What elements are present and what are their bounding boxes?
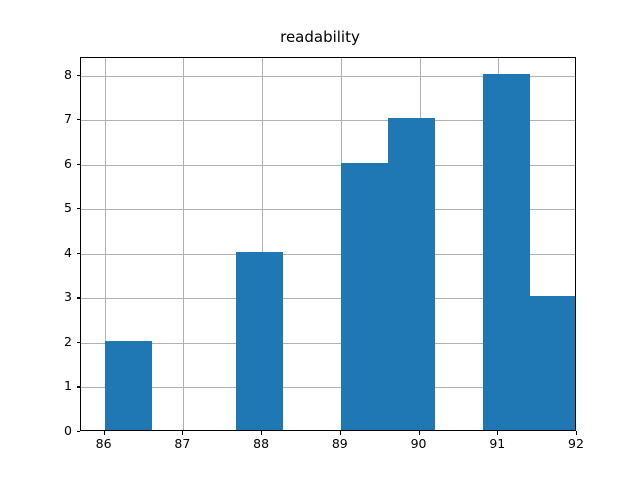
bar <box>530 296 576 430</box>
x-tick-label: 86 <box>96 438 112 450</box>
y-tick-label: 3 <box>64 291 72 303</box>
bar <box>341 163 388 430</box>
x-tick-label: 92 <box>568 438 584 450</box>
y-tick-mark <box>77 431 81 432</box>
x-tick-label: 88 <box>253 438 269 450</box>
x-axis-tick-labels: 86878889909192 <box>0 438 640 458</box>
y-tick-mark <box>77 342 81 343</box>
x-tick-label: 91 <box>489 438 505 450</box>
y-tick-label: 0 <box>64 425 72 437</box>
x-tick-mark <box>340 431 341 435</box>
y-tick-mark <box>77 75 81 76</box>
x-tick-mark <box>419 431 420 435</box>
bar <box>236 252 283 430</box>
y-tick-mark <box>77 119 81 120</box>
y-tick-label: 1 <box>64 380 72 392</box>
y-tick-mark <box>77 164 81 165</box>
y-tick-mark <box>77 208 81 209</box>
x-tick-label: 87 <box>174 438 190 450</box>
bar <box>105 341 152 430</box>
y-tick-label: 2 <box>64 336 72 348</box>
y-axis-tick-labels: 012345678 <box>44 0 72 480</box>
plot-area <box>80 57 576 431</box>
y-tick-label: 5 <box>64 202 72 214</box>
y-tick-mark <box>77 253 81 254</box>
x-tick-label: 89 <box>332 438 348 450</box>
x-tick-mark <box>182 431 183 435</box>
y-tick-label: 8 <box>64 69 72 81</box>
x-tick-mark <box>104 431 105 435</box>
gridline-x-87 <box>183 58 184 430</box>
x-tick-mark <box>497 431 498 435</box>
figure-canvas: readability 012345678 86878889909192 <box>0 0 640 480</box>
y-tick-label: 7 <box>64 113 72 125</box>
x-tick-label: 90 <box>411 438 427 450</box>
y-tick-mark <box>77 297 81 298</box>
bar <box>388 118 435 430</box>
bar <box>483 74 530 430</box>
y-tick-mark <box>77 386 81 387</box>
x-tick-mark <box>261 431 262 435</box>
y-tick-label: 6 <box>64 158 72 170</box>
chart-title: readability <box>0 28 640 46</box>
x-tick-mark <box>576 431 577 435</box>
y-tick-label: 4 <box>64 247 72 259</box>
